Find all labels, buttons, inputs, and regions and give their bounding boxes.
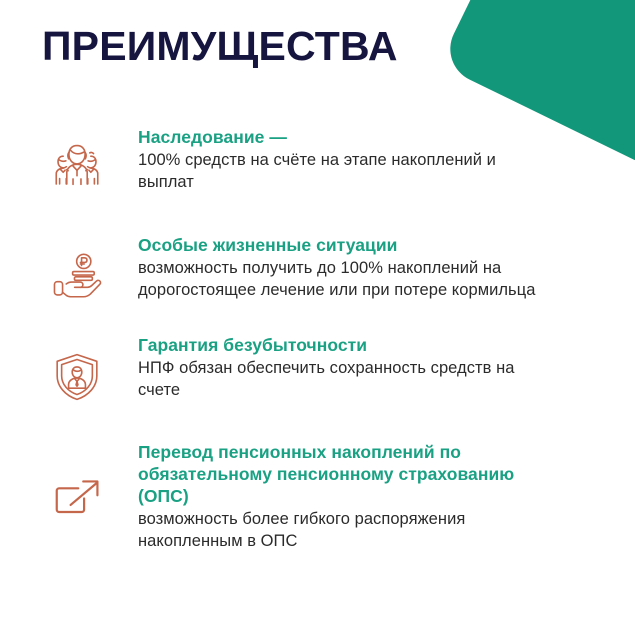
benefit-body: 100% средств на счёте на этапе накоплени… (138, 149, 555, 193)
benefits-slide: ПРЕИМУЩЕСТВА (0, 0, 635, 635)
benefits-list: Наследование — 100% средств на счёте на … (0, 126, 635, 552)
benefit-heading: Гарантия безубыточности (138, 334, 555, 356)
benefit-text-block: Перевод пенсионных накоплений по обязате… (108, 441, 635, 552)
benefit-text-block: Гарантия безубыточности НПФ обязан обесп… (108, 334, 635, 401)
benefit-body: возможность получить до 100% накоплений … (138, 257, 555, 301)
benefit-body: возможность более гибкого распоряжения н… (138, 508, 555, 552)
page-title: ПРЕИМУЩЕСТВА (42, 26, 398, 67)
benefit-item-inheritance: Наследование — 100% средств на счёте на … (0, 126, 635, 196)
benefit-body: НПФ обязан обеспечить сохранность средст… (138, 357, 555, 401)
shield-with-person-icon (46, 346, 108, 408)
benefit-item-special-situations: Особые жизненные ситуации возможность по… (0, 234, 635, 308)
benefit-text-block: Наследование — 100% средств на счёте на … (108, 126, 635, 193)
benefit-heading: Особые жизненные ситуации (138, 234, 555, 256)
benefit-item-transfer: Перевод пенсионных накоплений по обязате… (0, 441, 635, 552)
benefit-heading: Перевод пенсионных накоплений по обязате… (138, 441, 555, 507)
benefit-text-block: Особые жизненные ситуации возможность по… (108, 234, 635, 301)
hand-with-ruble-coins-icon (46, 246, 108, 308)
family-icon (46, 134, 108, 196)
benefit-heading: Наследование — (138, 126, 555, 148)
benefit-item-guarantee: Гарантия безубыточности НПФ обязан обесп… (0, 334, 635, 408)
export-arrow-icon (46, 467, 108, 529)
